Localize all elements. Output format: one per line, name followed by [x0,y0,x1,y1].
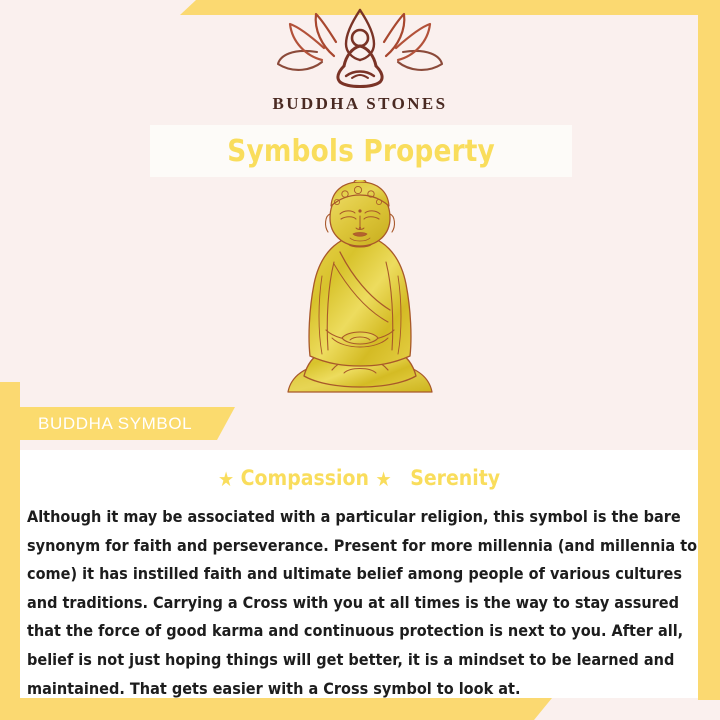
frame-left-accent [0,382,20,720]
title-band: Symbols Property [150,125,572,177]
trait-label-serenity: Serenity [410,466,500,490]
trait-label-compassion: Compassion [241,466,369,490]
brand-wordmark: BUDDHA STONES [0,94,720,114]
star-icon-1: ★ [218,467,234,491]
hero-image [0,180,720,400]
brand-logo: BUDDHA STONES [0,8,720,114]
page-title: Symbols Property [227,134,495,169]
lotus-meditation-icon [272,8,448,92]
symbol-ribbon-label: BUDDHA SYMBOL [38,414,192,434]
description-paragraph: Although it may be associated with a par… [27,503,707,703]
symbol-ribbon: BUDDHA SYMBOL [20,407,235,440]
description-panel: ★ Compassion ★ Serenity Although it may … [20,450,698,698]
golden-seated-buddha-illustration [270,180,450,400]
star-icon-2: ★ [375,467,391,491]
traits-heading: ★ Compassion ★ Serenity [54,466,664,491]
poster-root: BUDDHA STONES Symbols Property [0,0,720,720]
